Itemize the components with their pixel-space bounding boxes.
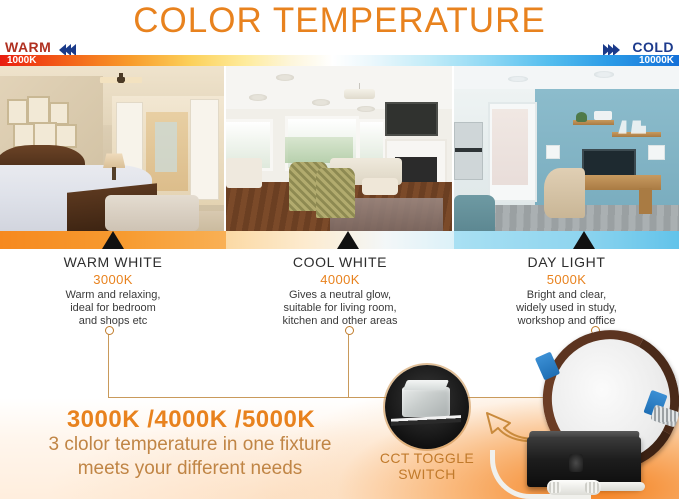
caption-description-line: Warm and relaxing, [0,289,226,302]
bottom-subline-2: meets your different needs [20,458,360,480]
scene-photo-home-office [454,66,679,231]
toggle-switch-icon [402,387,450,417]
cct-label-line: CCT TOGGLE [372,450,482,466]
triangle-up-icon [337,231,359,249]
scene-photo-living-room [226,66,452,231]
caption-kelvin: 4000K [226,271,454,288]
caption-title: DAY LIGHT [454,253,679,271]
caption-cool-white: COOL WHITE 4000K Gives a neutral glow, s… [226,253,454,328]
caption-description: Bright and clear, widely used in study, … [454,289,679,328]
wire-tail [595,482,645,491]
wall-oven [454,122,483,180]
bottom-kelvin-line: 3000K /4000K /5000K [26,406,356,434]
cable-connector [547,480,601,495]
caption-kelvin: 5000K [454,271,679,288]
caption-description-line: workshop and office [454,315,679,328]
caption-description-line: and shops etc [0,315,226,328]
cold-label: COLD [632,39,674,55]
band-day [454,231,679,249]
kelvin-max-label: 10000K [639,55,674,66]
caption-title: COOL WHITE [226,253,454,271]
switch-base [391,415,461,426]
cct-label-line: SWITCH [372,466,482,482]
caption-kelvin: 3000K [0,271,226,288]
connector-line-cool [348,330,349,397]
bottom-subline-1: 3 clolor temperature in one fixture [20,434,360,456]
infographic-root: COLOR TEMPERATURE WARM COLD 1000K 10000K [0,0,679,499]
recessed-downlight-fixture [495,330,679,499]
caption-description-line: kitchen and other areas [226,315,454,328]
ceiling-light-icon [99,73,144,86]
connector-line-warm [108,330,109,397]
caption-description: Warm and relaxing, ideal for bedroom and… [0,289,226,328]
kelvin-min-label: 1000K [7,55,36,66]
kelvin-gradient-bar [0,55,679,66]
page-title: COLOR TEMPERATURE [0,1,679,41]
caption-description-line: suitable for living room, [226,302,454,315]
color-band-strip [0,231,679,249]
tv-screen [385,102,439,136]
triangle-up-icon [102,231,124,249]
caption-warm-white: WARM WHITE 3000K Warm and relaxing, idea… [0,253,226,328]
connector-dot-cool [345,326,354,335]
pendant-light-icon [344,83,376,100]
connector-dot-warm [105,326,114,335]
caption-title: WARM WHITE [0,253,226,271]
cct-toggle-switch-closeup [385,365,469,449]
caption-description: Gives a neutral glow, suitable for livin… [226,289,454,328]
chevron-left-triple-icon [60,41,75,55]
caption-description-line: Gives a neutral glow, [226,289,454,302]
cct-toggle-switch-label: CCT TOGGLE SWITCH [372,450,482,482]
caption-description-line: ideal for bedroom [0,302,226,315]
scene-photo-row [0,66,679,231]
caption-day-light: DAY LIGHT 5000K Bright and clear, widely… [454,253,679,328]
caption-description-line: Bright and clear, [454,289,679,302]
caption-description-line: widely used in study, [454,302,679,315]
triangle-up-icon [573,231,595,249]
scene-photo-bedroom [0,66,224,231]
warm-label: WARM [5,39,51,55]
chevron-right-triple-icon [604,41,619,55]
